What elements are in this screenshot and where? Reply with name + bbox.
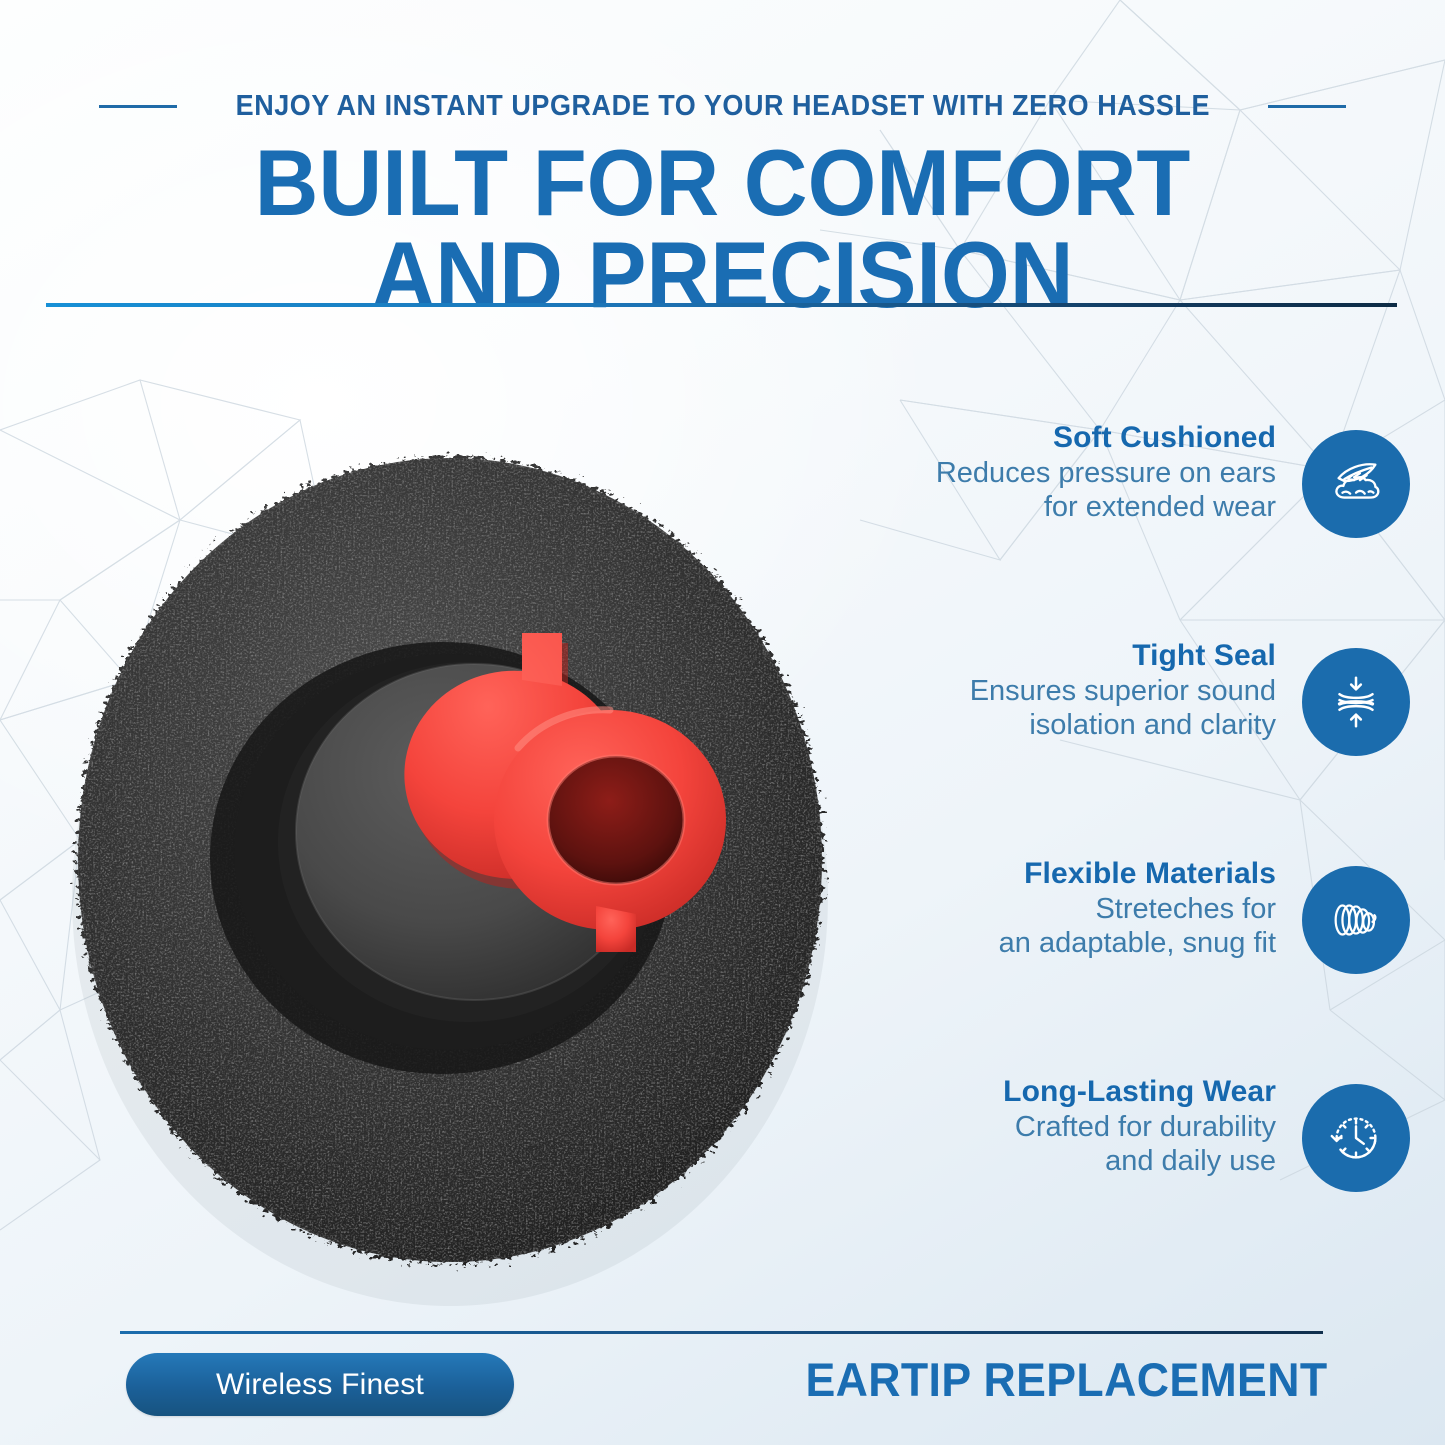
feature-title: Flexible Materials xyxy=(896,856,1276,891)
brand-label: EARTIP REPLACEMENT xyxy=(805,1352,1327,1407)
status-badge: Wireless Finest xyxy=(126,1353,514,1416)
product-image xyxy=(50,428,850,1308)
feature-item-tight-seal: Tight Seal Ensures superior sound isolat… xyxy=(800,638,1400,856)
feature-text: Soft Cushioned Reduces pressure on ears … xyxy=(896,420,1276,525)
feature-description-line1: Reduces pressure on ears xyxy=(936,457,1276,489)
feature-description-line2: isolation and clarity xyxy=(1029,709,1276,741)
feature-description-line2: and daily use xyxy=(1105,1145,1276,1177)
feature-text: Long-Lasting Wear Crafted for durability… xyxy=(896,1074,1276,1179)
footer-divider xyxy=(120,1331,1323,1334)
eyebrow-rule-right xyxy=(1268,105,1346,108)
feature-item-flexible-materials: Flexible Materials Streteches for an ada… xyxy=(800,856,1400,1074)
page-title-line1: BUILT FOR COMFORT xyxy=(255,130,1191,235)
feature-description-line2: an adaptable, snug fit xyxy=(999,927,1276,959)
feature-title: Soft Cushioned xyxy=(896,420,1276,455)
page-title-line2: AND PRECISION xyxy=(43,229,1401,321)
eyebrow-row: ENJOY AN INSTANT UPGRADE TO YOUR HEADSET… xyxy=(0,90,1445,123)
feature-list: Soft Cushioned Reduces pressure on ears … xyxy=(800,420,1400,1292)
feature-description: Crafted for durability and daily use xyxy=(896,1111,1276,1179)
clock-arrow-icon xyxy=(1302,1084,1410,1192)
badge-label: Wireless Finest xyxy=(216,1368,424,1402)
feature-description-line1: Ensures superior sound xyxy=(970,675,1276,707)
feature-description: Streteches for an adaptable, snug fit xyxy=(896,893,1276,961)
feature-description: Reduces pressure on ears for extended we… xyxy=(896,457,1276,525)
feature-description: Ensures superior sound isolation and cla… xyxy=(896,675,1276,743)
stretch-coil-icon xyxy=(1302,866,1410,974)
feature-text: Flexible Materials Streteches for an ada… xyxy=(896,856,1276,961)
feature-title: Tight Seal xyxy=(896,638,1276,673)
feature-item-soft-cushioned: Soft Cushioned Reduces pressure on ears … xyxy=(800,420,1400,638)
header: ENJOY AN INSTANT UPGRADE TO YOUR HEADSET… xyxy=(0,90,1445,321)
compression-seal-icon xyxy=(1302,648,1410,756)
feature-text: Tight Seal Ensures superior sound isolat… xyxy=(896,638,1276,743)
feature-item-long-lasting-wear: Long-Lasting Wear Crafted for durability… xyxy=(800,1074,1400,1292)
feature-description-line1: Streteches for xyxy=(1095,893,1276,925)
feature-description-line2: for extended wear xyxy=(1044,491,1276,523)
page-title: BUILT FOR COMFORT AND PRECISION xyxy=(43,137,1401,321)
feather-on-cloud-icon xyxy=(1302,430,1410,538)
header-divider xyxy=(46,303,1397,307)
product-infographic: ENJOY AN INSTANT UPGRADE TO YOUR HEADSET… xyxy=(0,0,1445,1445)
feature-description-line1: Crafted for durability xyxy=(1015,1111,1276,1143)
eyebrow-rule-left xyxy=(99,105,177,108)
feature-title: Long-Lasting Wear xyxy=(896,1074,1276,1109)
eyebrow-text: ENJOY AN INSTANT UPGRADE TO YOUR HEADSET… xyxy=(235,90,1209,123)
